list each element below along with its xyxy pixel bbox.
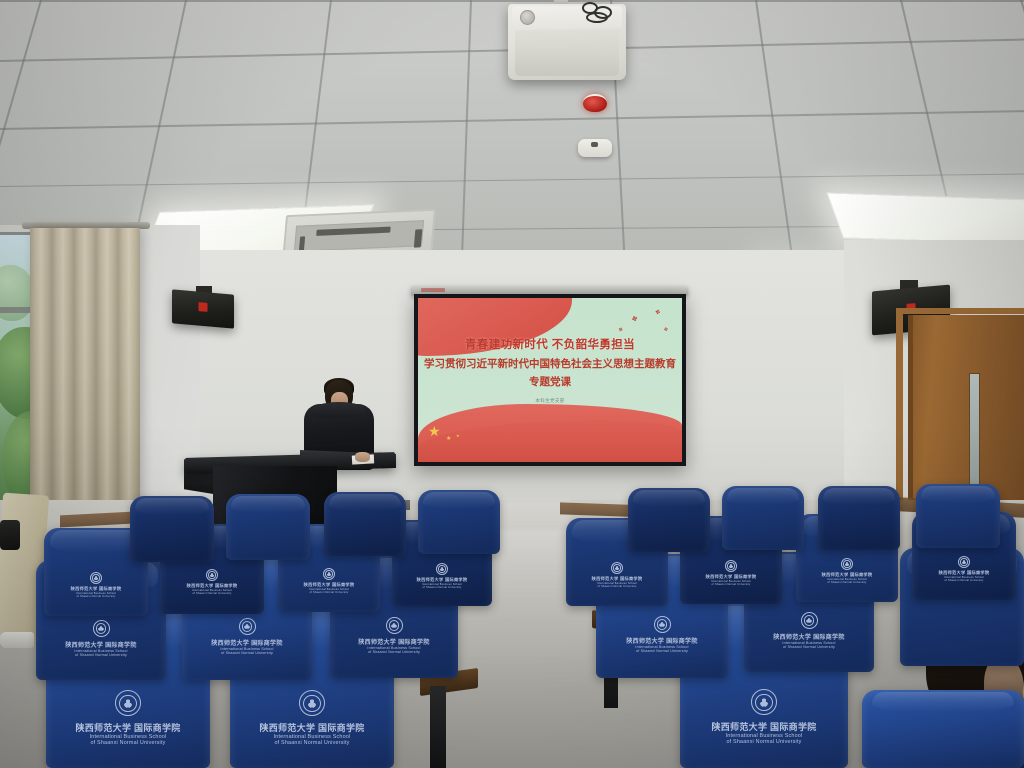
- seat-school-logo: 陕西师范大学 国际商学院International Business Schoo…: [680, 689, 848, 745]
- seat-logo-en-line1: International Business School: [422, 583, 462, 586]
- university-emblem-icon: [436, 563, 448, 575]
- auditorium-seat[interactable]: [628, 488, 710, 552]
- university-emblem-icon: [299, 690, 325, 716]
- seat-logo-cn-text: 陕西师范大学 国际商学院: [626, 636, 697, 645]
- seat-logo-en-line2: of Shaanxi Normal University: [636, 649, 688, 653]
- bird-icon-1: ✥: [631, 315, 639, 323]
- projector-lens: [520, 10, 535, 25]
- slide-organization: 本科生党支部: [418, 398, 682, 404]
- bird-icon-2: ✥: [654, 310, 660, 317]
- seat-school-logo: 陕西师范大学 国际商学院International Business Schoo…: [160, 569, 264, 595]
- seat-logo-en-line2: of Shaanxi Normal University: [783, 645, 835, 649]
- auditorium-seat[interactable]: [324, 492, 406, 556]
- university-emblem-icon: [958, 556, 970, 568]
- auditorium-seat[interactable]: [418, 490, 500, 554]
- bird-icon-3: ✥: [617, 327, 623, 333]
- star-icon-small-2: ★: [456, 434, 460, 438]
- seat-logo-cn-text: 陕西师范大学 国际商学院: [939, 570, 990, 576]
- star-icon-small-1: ★: [446, 436, 451, 442]
- foreground-attendee-bag: [0, 520, 20, 550]
- seat-logo-cn-text: 陕西师范大学 国际商学院: [259, 721, 364, 734]
- auditorium-seat[interactable]: [916, 484, 1000, 548]
- seat-logo-en-line1: International Business School: [220, 647, 273, 651]
- seat-logo-en-line1: International Business School: [635, 645, 688, 649]
- seat-school-logo: 陕西师范大学 国际商学院International Business Schoo…: [330, 617, 458, 654]
- seat-logo-en-line1: International Business School: [76, 592, 116, 595]
- seat-logo-cn-text: 陕西师范大学 国际商学院: [822, 572, 873, 578]
- seat-logo-cn-text: 陕西师范大学 国际商学院: [592, 576, 643, 582]
- auditorium-seat[interactable]: [818, 486, 900, 550]
- seat-school-logo: 陕西师范大学 国际商学院International Business Schoo…: [182, 618, 312, 655]
- seat-logo-cn-text: 陕西师范大学 国际商学院: [711, 720, 816, 733]
- seat-logo-cn-text: 陕西师范大学 国际商学院: [706, 574, 757, 580]
- seat-cover-highlight: [921, 486, 995, 503]
- seat-logo-en-line1: International Business School: [782, 641, 835, 645]
- seat-cover-highlight: [50, 530, 142, 553]
- seat-logo-cn-text: 陕西师范大学 国际商学院: [773, 632, 844, 641]
- ceiling-light-panel-right: [826, 192, 1024, 245]
- seat-arm-post-3: [430, 686, 446, 768]
- seat-logo-en-line1: International Business School: [74, 649, 127, 653]
- window-curtain: [30, 228, 140, 518]
- seat-cover-highlight: [329, 494, 401, 511]
- smoke-detector: [578, 139, 612, 157]
- presentation-slide: ✥ ✥ ✥ ✥ 青春建功新时代 不负韶华勇担当 学习贯彻习近平新时代中国特色社会…: [418, 298, 682, 462]
- seat-logo-en-line1: International Business School: [309, 588, 349, 591]
- seat-school-logo: 陕西师范大学 国际商学院International Business Schoo…: [796, 558, 898, 584]
- auditorium-seat[interactable]: [862, 690, 1024, 768]
- seat-logo-en-line1: International Business School: [192, 589, 232, 592]
- seat-logo-en-line2: of Shaanxi Normal University: [944, 579, 983, 582]
- wall-speaker-left: [172, 289, 234, 328]
- auditorium-seat[interactable]: [130, 496, 214, 562]
- seat-logo-en-line2: of Shaanxi Normal University: [597, 585, 636, 588]
- seat-cover-highlight: [135, 498, 209, 515]
- presenter-hood: [312, 402, 366, 418]
- seat-school-logo: 陕西师范大学 国际商学院International Business Schoo…: [566, 562, 668, 588]
- seat-logo-cn-text: 陕西师范大学 国际商学院: [187, 583, 238, 589]
- university-emblem-icon: [323, 568, 335, 580]
- seat-school-logo: 陕西师范大学 国际商学院International Business Schoo…: [912, 556, 1016, 582]
- university-emblem-icon: [206, 569, 218, 581]
- seat-logo-en-line2: of Shaanxi Normal University: [76, 595, 115, 598]
- seat-school-logo: 陕西师范大学 国际商学院International Business Schoo…: [392, 563, 492, 589]
- lecture-hall-photo: ✥ ✥ ✥ ✥ 青春建功新时代 不负韶华勇担当 学习贯彻习近平新时代中国特色社会…: [0, 0, 1024, 768]
- seat-logo-cn-text: 陕西师范大学 国际商学院: [65, 640, 136, 649]
- university-emblem-icon: [611, 562, 623, 574]
- seat-logo-en-line1: International Business School: [944, 576, 984, 579]
- university-emblem-icon: [239, 618, 256, 635]
- university-emblem-icon: [386, 617, 403, 634]
- seat-logo-en-line2: of Shaanxi Normal University: [192, 592, 231, 595]
- star-icon-large: ★: [428, 424, 441, 438]
- seat-logo-en-line1: International Business School: [274, 734, 351, 740]
- seat-logo-en-line1: International Business School: [827, 578, 867, 581]
- seat-school-logo: 陕西师范大学 国际商学院International Business Schoo…: [230, 690, 394, 746]
- seat-school-logo: 陕西师范大学 国际商学院International Business Schoo…: [44, 572, 148, 598]
- auditorium-seat[interactable]: [226, 494, 310, 560]
- university-emblem-icon: [93, 620, 110, 637]
- seat-logo-en-line2: of Shaanxi Normal University: [422, 586, 461, 589]
- bird-icon-4: ✥: [663, 328, 668, 334]
- seat-logo-en-line1: International Business School: [597, 582, 637, 585]
- seat-logo-cn-text: 陕西师范大学 国际商学院: [75, 721, 180, 734]
- seat-cover-highlight: [727, 488, 799, 505]
- university-emblem-icon: [115, 690, 141, 716]
- university-emblem-icon: [90, 572, 102, 584]
- seat-logo-en-line2: of Shaanxi Normal University: [274, 740, 349, 746]
- seat-logo-en-line2: of Shaanxi Normal University: [90, 740, 165, 746]
- seat-logo-en-line2: of Shaanxi Normal University: [827, 581, 866, 584]
- seat-cover-highlight: [823, 488, 895, 505]
- projector-cables: [580, 4, 622, 28]
- seat-school-logo: 陕西师范大学 国际商学院International Business Schoo…: [278, 568, 380, 594]
- seat-cover-highlight: [231, 496, 305, 513]
- seat-school-logo: 陕西师范大学 国际商学院International Business Schoo…: [680, 560, 782, 586]
- slide-subtitle-line2: 专题党课: [418, 374, 682, 389]
- seat-logo-en-line2: of Shaanxi Normal University: [711, 583, 750, 586]
- seat-cover-highlight: [423, 492, 495, 509]
- seat-logo-en-line2: of Shaanxi Normal University: [75, 653, 127, 657]
- university-emblem-icon: [801, 612, 818, 629]
- seat-logo-en-line1: International Business School: [726, 733, 803, 739]
- seat-logo-cn-text: 陕西师范大学 国际商学院: [417, 577, 468, 583]
- seat-school-logo: 陕西师范大学 国际商学院International Business Schoo…: [46, 690, 210, 746]
- speaker-logo-left: [199, 302, 208, 312]
- seat-logo-en-line1: International Business School: [367, 646, 420, 650]
- university-emblem-icon: [841, 558, 853, 570]
- seat-logo-cn-text: 陕西师范大学 国际商学院: [358, 637, 429, 646]
- presenter-hand: [355, 452, 370, 462]
- seat-logo-cn-text: 陕西师范大学 国际商学院: [211, 638, 282, 647]
- fire-alarm-strobe: [583, 94, 607, 112]
- university-emblem-icon: [654, 616, 671, 633]
- seat-school-logo: 陕西师范大学 国际商学院International Business Schoo…: [744, 612, 874, 649]
- seat-logo-en-line2: of Shaanxi Normal University: [309, 591, 348, 594]
- auditorium-seat[interactable]: [722, 486, 804, 550]
- university-emblem-icon: [751, 689, 777, 715]
- seat-school-logo: 陕西师范大学 国际商学院International Business Schoo…: [596, 616, 728, 653]
- seat-logo-en-line2: of Shaanxi Normal University: [221, 651, 273, 655]
- seat-logo-en-line1: International Business School: [90, 734, 167, 740]
- seat-logo-en-line2: of Shaanxi Normal University: [726, 739, 801, 745]
- seat-cover-highlight: [872, 692, 1015, 712]
- seat-logo-en-line2: of Shaanxi Normal University: [368, 650, 420, 654]
- seat-logo-en-line1: International Business School: [711, 580, 751, 583]
- ceiling-projector: [508, 4, 626, 80]
- projection-screen: ✥ ✥ ✥ ✥ 青春建功新时代 不负韶华勇担当 学习贯彻习近平新时代中国特色社会…: [414, 294, 686, 466]
- seat-logo-cn-text: 陕西师范大学 国际商学院: [71, 586, 122, 592]
- slide-title: 青春建功新时代 不负韶华勇担当: [418, 336, 682, 352]
- seat-school-logo: 陕西师范大学 国际商学院International Business Schoo…: [36, 620, 166, 657]
- university-emblem-icon: [725, 560, 737, 572]
- slide-subtitle-line1: 学习贯彻习近平新时代中国特色社会主义思想主题教育: [418, 356, 682, 371]
- seat-logo-cn-text: 陕西师范大学 国际商学院: [304, 582, 355, 588]
- foreground-attendee-shoe: [0, 632, 34, 648]
- seat-cover-highlight: [633, 490, 705, 507]
